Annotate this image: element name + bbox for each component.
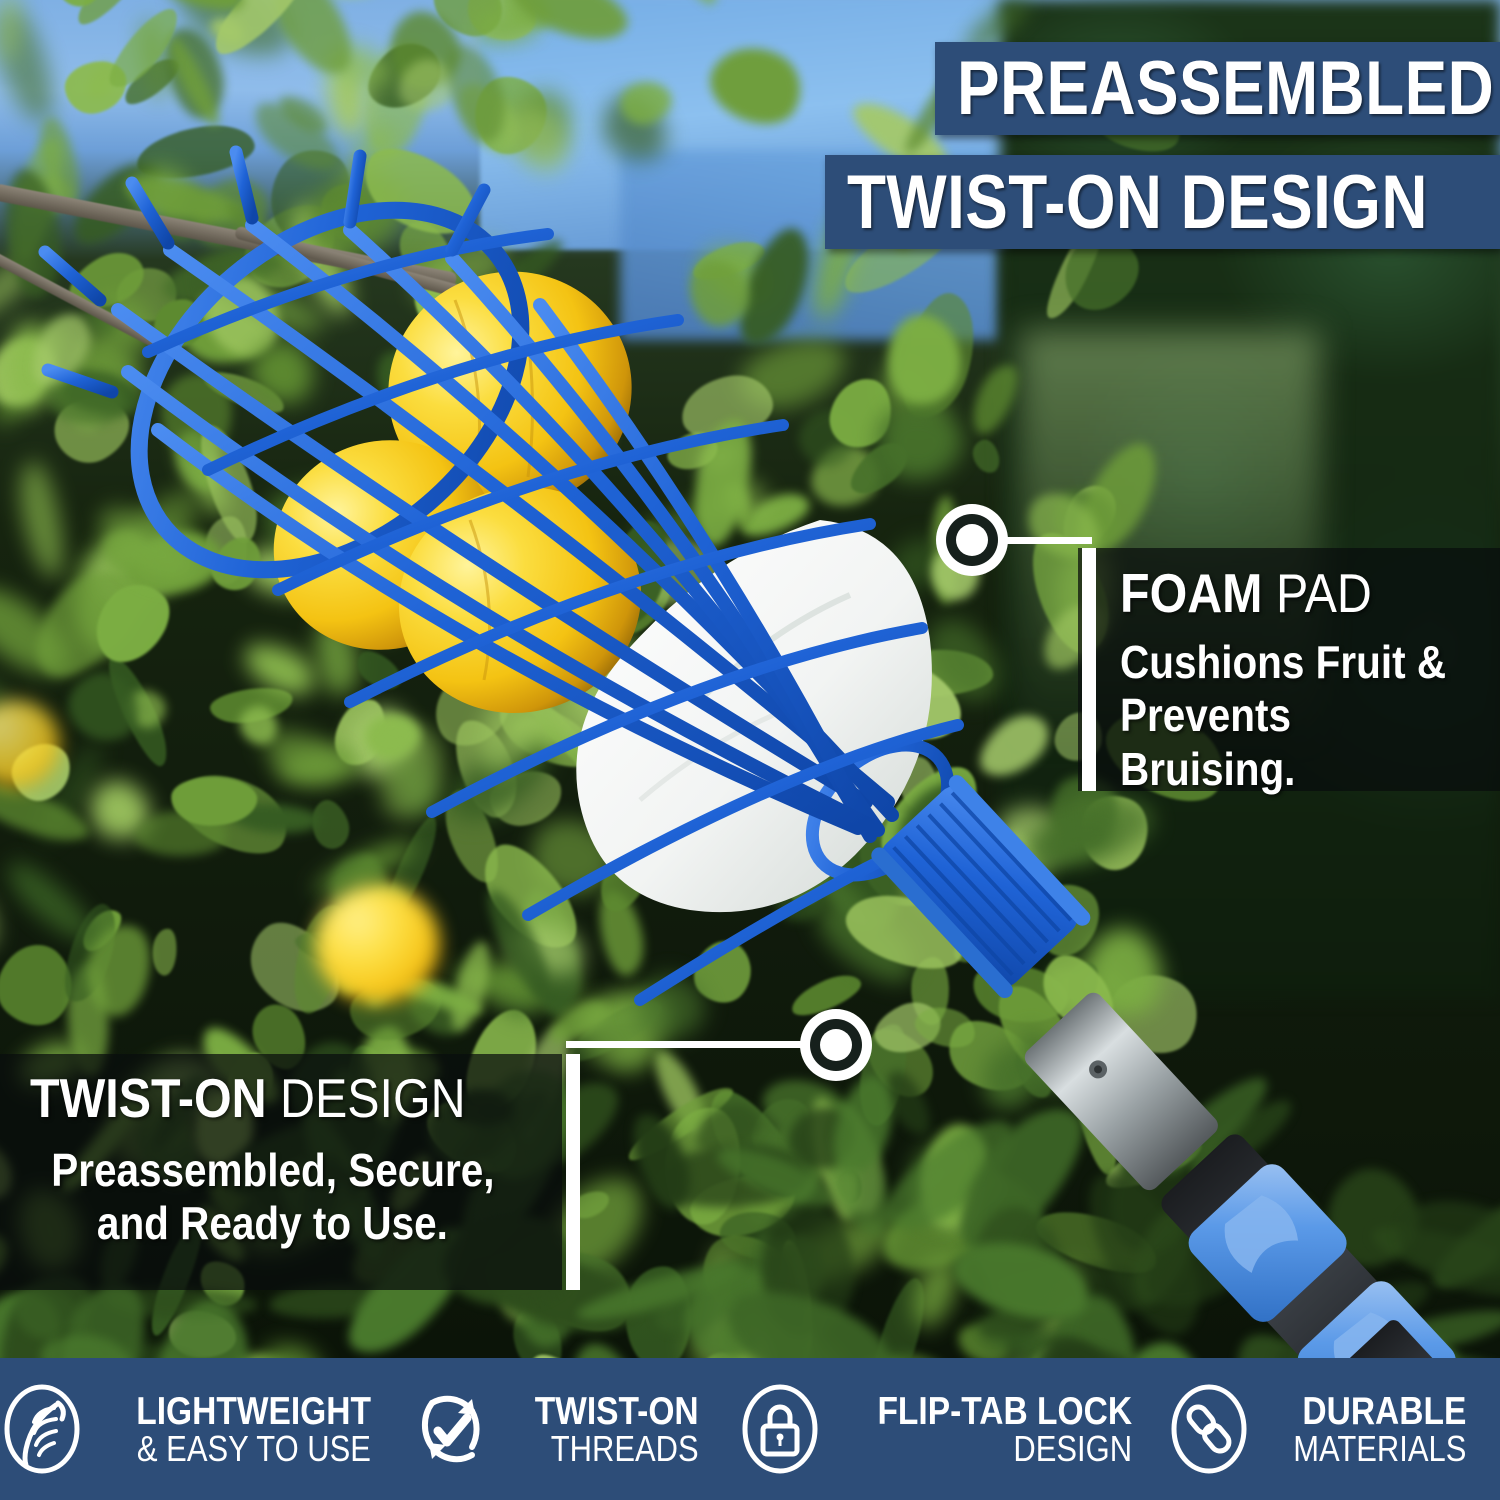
feature-line1: FLIP-TAB LOCK xyxy=(878,1392,1133,1431)
header-banner-line1: PREASSEMBLED xyxy=(935,42,1500,135)
callout-foam-pad-body: Cushions Fruit & Prevents Bruising. xyxy=(1120,636,1500,796)
callout-body-line1: Preassembled, Secure, xyxy=(51,1144,494,1197)
header-banner-line2: TWIST-ON DESIGN xyxy=(825,155,1500,249)
feather-icon xyxy=(0,1381,84,1477)
callout-title-light: PAD xyxy=(1262,562,1371,624)
callout-title-light: DESIGN xyxy=(267,1067,466,1129)
chain-link-icon xyxy=(1167,1381,1251,1477)
callout-connector-line xyxy=(566,1041,818,1048)
callout-accent-bar xyxy=(1082,548,1096,791)
feature-twist-on-threads: TWIST-ON THREADS xyxy=(371,1381,738,1477)
feature-flip-tab-lock-label: FLIP-TAB LOCK DESIGN xyxy=(836,1392,1132,1467)
callout-connector-line xyxy=(996,537,1092,544)
feature-lightweight: LIGHTWEIGHT & EASY TO USE xyxy=(0,1381,371,1477)
feature-line2: & EASY TO USE xyxy=(136,1431,371,1467)
padlock-icon xyxy=(738,1381,822,1477)
callout-body-line2: and Ready to Use. xyxy=(97,1197,448,1250)
callout-foam-pad-title: FOAM PAD xyxy=(1120,565,1406,621)
refresh-check-icon xyxy=(410,1381,494,1477)
feature-twist-on-threads-label: TWIST-ON THREADS xyxy=(508,1392,699,1467)
callout-dot-icon xyxy=(936,504,1008,576)
feature-flip-tab-lock: FLIP-TAB LOCK DESIGN xyxy=(738,1381,1132,1477)
callout-dot-icon xyxy=(800,1009,872,1081)
feature-line1: DURABLE xyxy=(1293,1392,1466,1431)
callout-body-line2: Prevents Bruising. xyxy=(1120,689,1454,796)
feature-line1: TWIST-ON xyxy=(535,1392,699,1431)
feature-line2: DESIGN xyxy=(878,1431,1133,1467)
callout-body-line1: Cushions Fruit & xyxy=(1120,636,1446,689)
infographic-canvas: PREASSEMBLED TWIST-ON DESIGN FOAM PAD Cu… xyxy=(0,0,1500,1500)
header-title-line2: TWIST-ON DESIGN xyxy=(847,159,1428,246)
feature-lightweight-label: LIGHTWEIGHT & EASY TO USE xyxy=(98,1392,371,1467)
feature-line2: MATERIALS xyxy=(1293,1431,1466,1467)
feature-bar: LIGHTWEIGHT & EASY TO USE TWIST-ON TH xyxy=(0,1358,1500,1500)
callout-title-strong: FOAM xyxy=(1120,562,1262,624)
header-title-line1: PREASSEMBLED xyxy=(957,45,1494,132)
callout-twist-on-title: TWIST-ON DESIGN xyxy=(30,1070,525,1126)
callout-twist-on-body: Preassembled, Secure, and Ready to Use. xyxy=(0,1144,545,1251)
feature-line2: THREADS xyxy=(535,1431,699,1467)
callout-accent-bar xyxy=(566,1054,580,1290)
feature-durable-materials-label: DURABLE MATERIALS xyxy=(1265,1392,1466,1467)
feature-durable-materials: DURABLE MATERIALS xyxy=(1133,1381,1500,1477)
feature-line1: LIGHTWEIGHT xyxy=(136,1392,371,1431)
callout-title-strong: TWIST-ON xyxy=(30,1067,267,1129)
